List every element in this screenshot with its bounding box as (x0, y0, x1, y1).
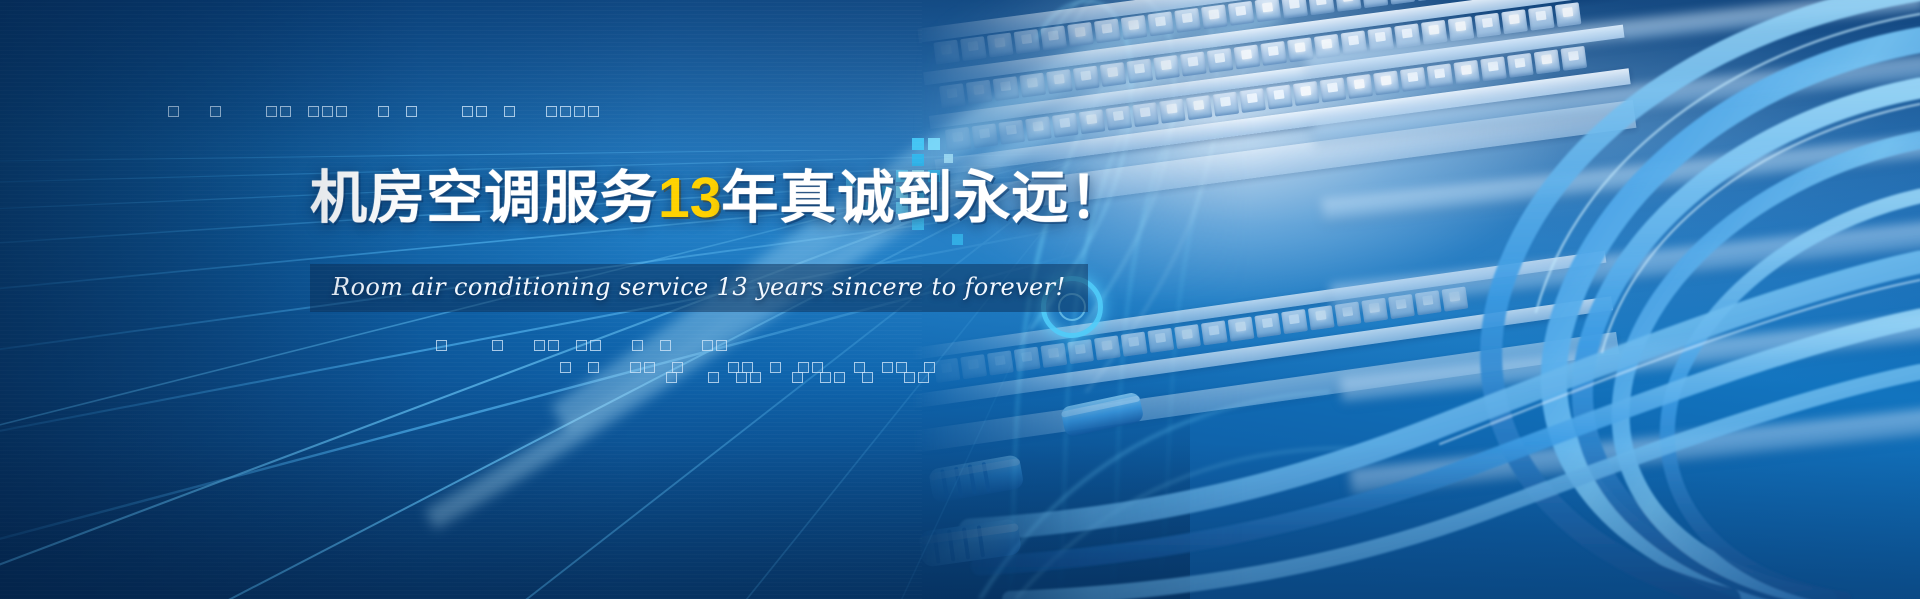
subtitle: Room air conditioning service 13 years s… (332, 275, 1066, 299)
headline-after: 年真诚到永远！ (721, 165, 1127, 231)
headline-number: 13 (658, 166, 721, 230)
rj45-connectors (918, 391, 1144, 567)
hero-banner: 机房空调服务13年真诚到永远！ Room air conditioning se… (0, 0, 1920, 599)
decor-squares-bottom-c (666, 372, 932, 383)
subtitle-backdrop: Room air conditioning service 13 years s… (310, 264, 1088, 312)
decor-squares-top (168, 106, 602, 117)
headline-before: 机房空调服务 (310, 165, 658, 231)
decor-squares-bottom-a (436, 340, 730, 351)
headline: 机房空调服务13年真诚到永远！ (310, 168, 1210, 230)
banner-copy: 机房空调服务13年真诚到永远！ Room air conditioning se… (310, 168, 1210, 312)
